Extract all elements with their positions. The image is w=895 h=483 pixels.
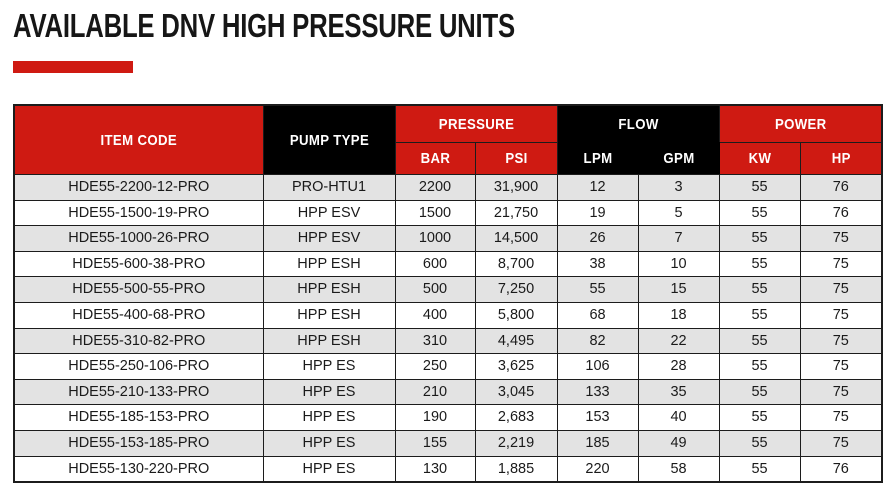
cell-gpm: 49 xyxy=(638,430,719,456)
cell-hp: 75 xyxy=(800,226,882,252)
cell-hp: 75 xyxy=(800,251,882,277)
cell-hp: 76 xyxy=(800,175,882,201)
table-row[interactable]: HDE55-250-106-PROHPP ES2503,625106285575 xyxy=(14,354,882,380)
table-row[interactable]: HDE55-1500-19-PROHPP ESV150021,750195557… xyxy=(14,200,882,226)
column-group-header-flow-label: FLOW xyxy=(567,116,709,133)
table-row[interactable]: HDE55-1000-26-PROHPP ESV100014,500267557… xyxy=(14,226,882,252)
cell-pump-type: HPP ESV xyxy=(263,200,395,226)
cell-bar: 250 xyxy=(395,354,475,380)
cell-kw: 55 xyxy=(719,277,800,303)
cell-hp: 76 xyxy=(800,200,882,226)
cell-pump-type: HPP ESV xyxy=(263,226,395,252)
column-header-psi[interactable]: PSI xyxy=(475,143,557,175)
cell-lpm: 133 xyxy=(557,379,638,405)
cell-pump-type: PRO-HTU1 xyxy=(263,175,395,201)
cell-psi: 21,750 xyxy=(475,200,557,226)
cell-hp: 76 xyxy=(800,456,882,482)
spec-sheet-page: AVAILABLE DNV HIGH PRESSURE UNITS ITEM C… xyxy=(0,0,895,481)
cell-gpm: 22 xyxy=(638,328,719,354)
cell-psi: 1,885 xyxy=(475,456,557,482)
cell-psi: 2,219 xyxy=(475,430,557,456)
column-header-pump-type-label: PUMP TYPE xyxy=(271,132,386,149)
cell-bar: 2200 xyxy=(395,175,475,201)
cell-pump-type: HPP ES xyxy=(263,456,395,482)
cell-lpm: 19 xyxy=(557,200,638,226)
cell-pump-type: HPP ESH xyxy=(263,302,395,328)
high-pressure-units-table: ITEM CODE PUMP TYPE PRESSURE FLOW POWER xyxy=(13,104,883,483)
cell-pump-type: HPP ESH xyxy=(263,328,395,354)
cell-gpm: 40 xyxy=(638,405,719,431)
cell-bar: 1500 xyxy=(395,200,475,226)
cell-psi: 3,625 xyxy=(475,354,557,380)
cell-kw: 55 xyxy=(719,226,800,252)
cell-kw: 55 xyxy=(719,430,800,456)
cell-hp: 75 xyxy=(800,328,882,354)
cell-item-code: HDE55-2200-12-PRO xyxy=(14,175,263,201)
column-header-pump-type[interactable]: PUMP TYPE xyxy=(263,105,395,175)
column-header-lpm-label: LPM xyxy=(562,150,632,167)
cell-pump-type: HPP ES xyxy=(263,430,395,456)
table-row[interactable]: HDE55-400-68-PROHPP ESH4005,80068185575 xyxy=(14,302,882,328)
cell-kw: 55 xyxy=(719,405,800,431)
table-row[interactable]: HDE55-310-82-PROHPP ESH3104,49582225575 xyxy=(14,328,882,354)
column-header-bar-label: BAR xyxy=(400,150,470,167)
cell-gpm: 28 xyxy=(638,354,719,380)
cell-gpm: 18 xyxy=(638,302,719,328)
table-header-group-row: ITEM CODE PUMP TYPE PRESSURE FLOW POWER xyxy=(14,105,882,143)
column-header-item-code-label: ITEM CODE xyxy=(30,132,248,149)
column-header-kw[interactable]: KW xyxy=(719,143,800,175)
cell-hp: 75 xyxy=(800,405,882,431)
column-header-gpm[interactable]: GPM xyxy=(638,143,719,175)
column-group-header-power[interactable]: POWER xyxy=(719,105,882,143)
cell-kw: 55 xyxy=(719,328,800,354)
cell-gpm: 15 xyxy=(638,277,719,303)
column-header-hp-label: HP xyxy=(805,150,876,167)
cell-bar: 1000 xyxy=(395,226,475,252)
cell-lpm: 55 xyxy=(557,277,638,303)
cell-psi: 4,495 xyxy=(475,328,557,354)
cell-lpm: 68 xyxy=(557,302,638,328)
column-header-psi-label: PSI xyxy=(480,150,551,167)
table-row[interactable]: HDE55-600-38-PROHPP ESH6008,70038105575 xyxy=(14,251,882,277)
column-header-lpm[interactable]: LPM xyxy=(557,143,638,175)
table-row[interactable]: HDE55-185-153-PROHPP ES1902,683153405575 xyxy=(14,405,882,431)
column-group-header-flow[interactable]: FLOW xyxy=(557,105,719,143)
column-header-kw-label: KW xyxy=(724,150,794,167)
cell-psi: 2,683 xyxy=(475,405,557,431)
column-group-header-pressure-label: PRESSURE xyxy=(405,116,547,133)
table-row[interactable]: HDE55-210-133-PROHPP ES2103,045133355575 xyxy=(14,379,882,405)
table-row[interactable]: HDE55-2200-12-PROPRO-HTU1220031,90012355… xyxy=(14,175,882,201)
cell-kw: 55 xyxy=(719,302,800,328)
table-row[interactable]: HDE55-130-220-PROHPP ES1301,885220585576 xyxy=(14,456,882,482)
cell-item-code: HDE55-400-68-PRO xyxy=(14,302,263,328)
cell-item-code: HDE55-500-55-PRO xyxy=(14,277,263,303)
cell-item-code: HDE55-600-38-PRO xyxy=(14,251,263,277)
cell-hp: 75 xyxy=(800,277,882,303)
cell-pump-type: HPP ESH xyxy=(263,251,395,277)
cell-kw: 55 xyxy=(719,354,800,380)
cell-item-code: HDE55-1500-19-PRO xyxy=(14,200,263,226)
cell-bar: 210 xyxy=(395,379,475,405)
cell-pump-type: HPP ESH xyxy=(263,277,395,303)
cell-item-code: HDE55-1000-26-PRO xyxy=(14,226,263,252)
cell-psi: 8,700 xyxy=(475,251,557,277)
cell-gpm: 5 xyxy=(638,200,719,226)
cell-gpm: 10 xyxy=(638,251,719,277)
cell-gpm: 35 xyxy=(638,379,719,405)
cell-pump-type: HPP ES xyxy=(263,379,395,405)
cell-psi: 14,500 xyxy=(475,226,557,252)
cell-hp: 75 xyxy=(800,379,882,405)
table-row[interactable]: HDE55-153-185-PROHPP ES1552,219185495575 xyxy=(14,430,882,456)
table-row[interactable]: HDE55-500-55-PROHPP ESH5007,25055155575 xyxy=(14,277,882,303)
column-group-header-power-label: POWER xyxy=(729,116,871,133)
cell-hp: 75 xyxy=(800,430,882,456)
cell-hp: 75 xyxy=(800,354,882,380)
cell-bar: 600 xyxy=(395,251,475,277)
cell-kw: 55 xyxy=(719,251,800,277)
column-header-item-code[interactable]: ITEM CODE xyxy=(14,105,263,175)
cell-bar: 310 xyxy=(395,328,475,354)
spec-table-container: ITEM CODE PUMP TYPE PRESSURE FLOW POWER xyxy=(13,104,881,483)
cell-gpm: 7 xyxy=(638,226,719,252)
cell-bar: 155 xyxy=(395,430,475,456)
cell-kw: 55 xyxy=(719,200,800,226)
cell-psi: 5,800 xyxy=(475,302,557,328)
cell-bar: 130 xyxy=(395,456,475,482)
cell-hp: 75 xyxy=(800,302,882,328)
column-header-gpm-label: GPM xyxy=(643,150,713,167)
cell-bar: 500 xyxy=(395,277,475,303)
cell-pump-type: HPP ES xyxy=(263,354,395,380)
cell-gpm: 3 xyxy=(638,175,719,201)
cell-psi: 31,900 xyxy=(475,175,557,201)
cell-lpm: 106 xyxy=(557,354,638,380)
cell-lpm: 220 xyxy=(557,456,638,482)
cell-item-code: HDE55-210-133-PRO xyxy=(14,379,263,405)
cell-kw: 55 xyxy=(719,456,800,482)
column-group-header-pressure[interactable]: PRESSURE xyxy=(395,105,557,143)
column-header-bar[interactable]: BAR xyxy=(395,143,475,175)
cell-item-code: HDE55-153-185-PRO xyxy=(14,430,263,456)
cell-item-code: HDE55-185-153-PRO xyxy=(14,405,263,431)
cell-item-code: HDE55-310-82-PRO xyxy=(14,328,263,354)
cell-pump-type: HPP ES xyxy=(263,405,395,431)
page-title: AVAILABLE DNV HIGH PRESSURE UNITS xyxy=(13,6,515,46)
cell-lpm: 38 xyxy=(557,251,638,277)
table-body: HDE55-2200-12-PROPRO-HTU1220031,90012355… xyxy=(14,175,882,483)
cell-lpm: 185 xyxy=(557,430,638,456)
cell-item-code: HDE55-130-220-PRO xyxy=(14,456,263,482)
cell-kw: 55 xyxy=(719,175,800,201)
cell-bar: 400 xyxy=(395,302,475,328)
cell-lpm: 153 xyxy=(557,405,638,431)
cell-gpm: 58 xyxy=(638,456,719,482)
column-header-hp[interactable]: HP xyxy=(800,143,882,175)
cell-item-code: HDE55-250-106-PRO xyxy=(14,354,263,380)
cell-psi: 7,250 xyxy=(475,277,557,303)
cell-lpm: 12 xyxy=(557,175,638,201)
cell-bar: 190 xyxy=(395,405,475,431)
cell-lpm: 82 xyxy=(557,328,638,354)
cell-psi: 3,045 xyxy=(475,379,557,405)
title-accent-bar xyxy=(13,61,133,73)
cell-kw: 55 xyxy=(719,379,800,405)
table-head: ITEM CODE PUMP TYPE PRESSURE FLOW POWER xyxy=(14,105,882,175)
cell-lpm: 26 xyxy=(557,226,638,252)
